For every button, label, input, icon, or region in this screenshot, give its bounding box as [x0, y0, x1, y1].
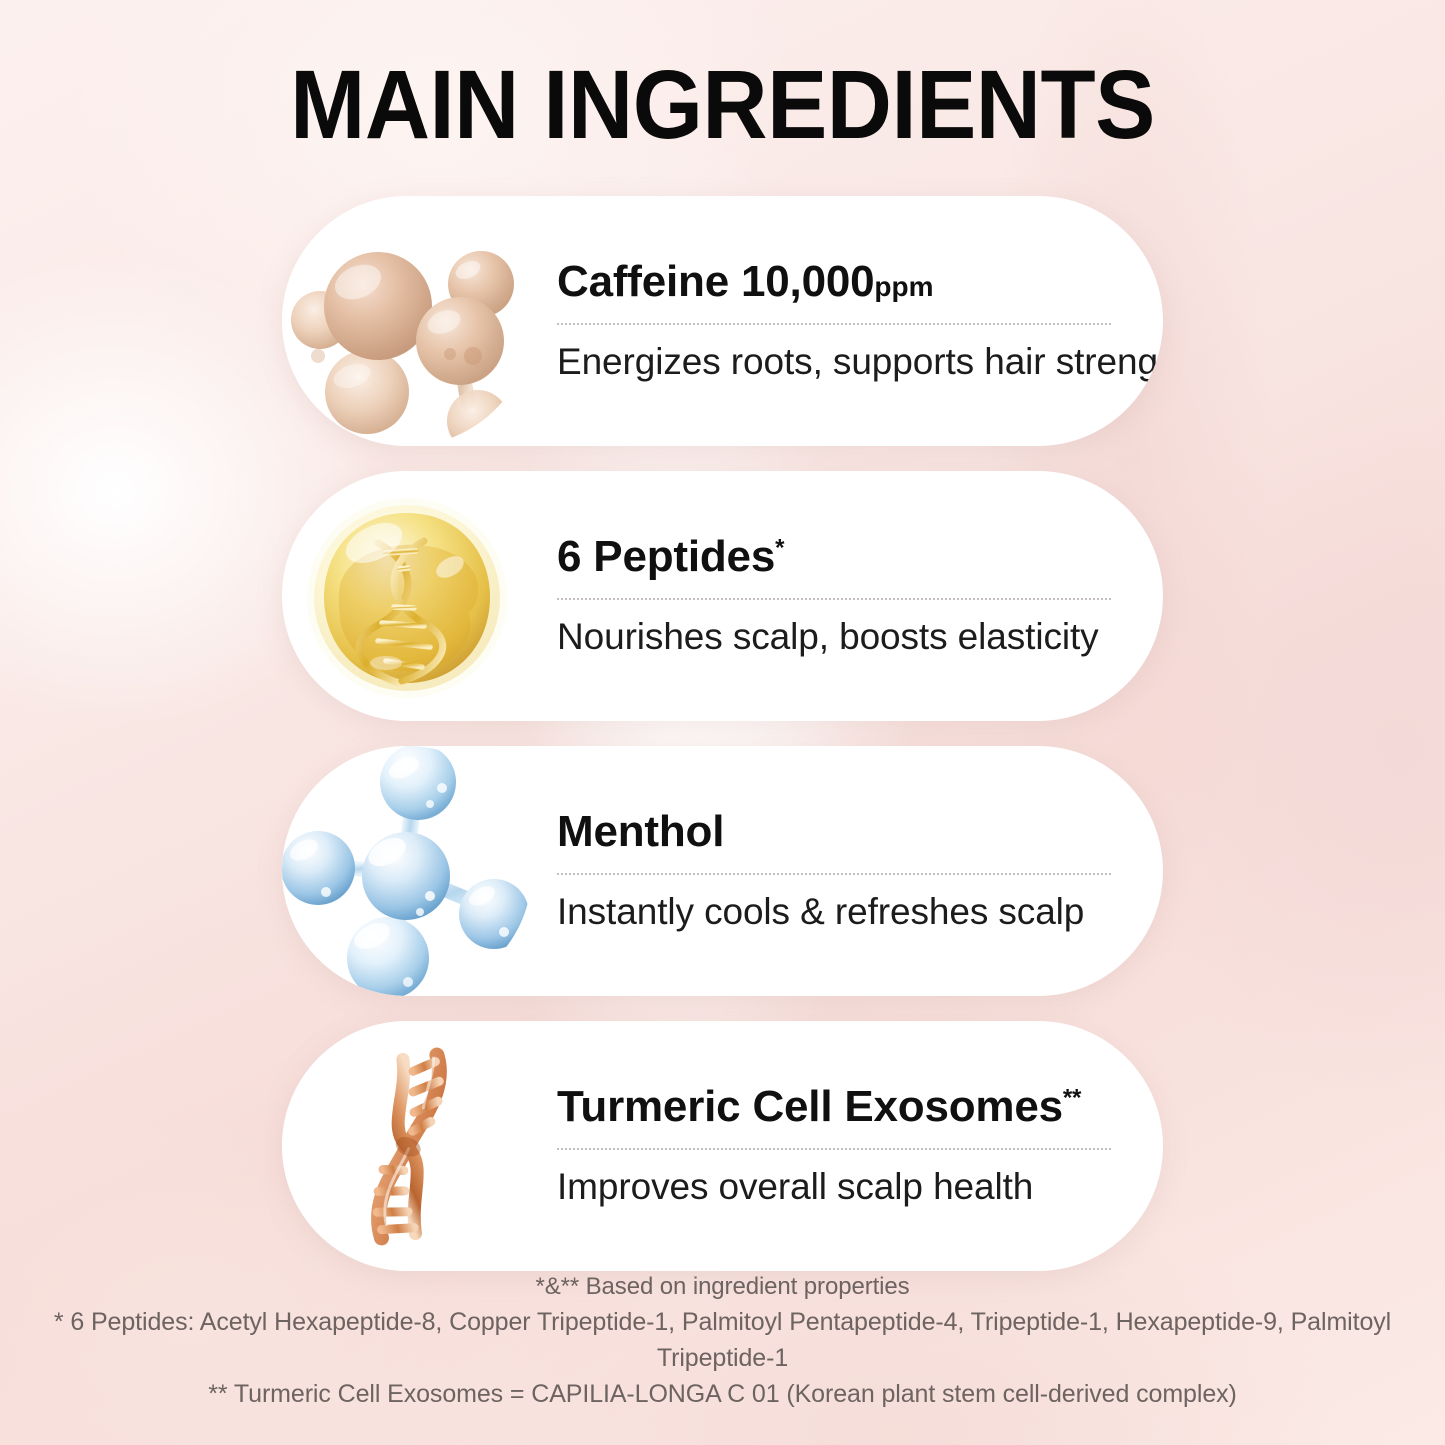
ingredient-card-list: Caffeine 10,000ppm Energizes roots, supp… — [0, 196, 1445, 1296]
ingredient-card-body: Caffeine 10,000ppm Energizes roots, supp… — [532, 259, 1163, 382]
footnote-turmeric: ** Turmeric Cell Exosomes = CAPILIA-LONG… — [0, 1376, 1445, 1412]
ingredient-description: Instantly cools & refreshes scalp — [557, 891, 1111, 932]
ingredient-description: Improves overall scalp health — [557, 1166, 1111, 1207]
ingredient-description: Energizes roots, supports hair strength — [557, 341, 1111, 382]
card-divider — [557, 873, 1111, 875]
ingredient-title-text: 6 Peptides — [557, 532, 775, 581]
ingredient-card-peptides[interactable]: 6 Peptides* Nourishes scalp, boosts elas… — [282, 471, 1163, 721]
card-divider — [557, 598, 1111, 600]
card-divider — [557, 323, 1111, 325]
ingredient-footnote-marker: * — [775, 535, 784, 562]
ingredient-title: Caffeine 10,000ppm — [557, 259, 1111, 306]
ingredient-title: Turmeric Cell Exosomes** — [557, 1084, 1111, 1131]
ingredient-card-turmeric-cell-exosomes[interactable]: Turmeric Cell Exosomes** Improves overal… — [282, 1021, 1163, 1271]
rose-gold-molecule-spheres-svg — [282, 196, 532, 446]
ingredient-title-text: Caffeine 10,000 — [557, 257, 874, 306]
ingredient-card-body: 6 Peptides* Nourishes scalp, boosts elas… — [532, 534, 1163, 657]
footnote-basis: *&** Based on ingredient properties — [0, 1270, 1445, 1304]
ingredient-card-body: Menthol Instantly cools & refreshes scal… — [532, 809, 1163, 932]
ingredient-unit: ppm — [874, 271, 933, 302]
page-title: MAIN INGREDIENTS — [51, 56, 1395, 153]
footnote-peptides: * 6 Peptides: Acetyl Hexapeptide-8, Copp… — [0, 1304, 1445, 1376]
ingredient-card-menthol[interactable]: Menthol Instantly cools & refreshes scal… — [282, 746, 1163, 996]
footnotes: *&** Based on ingredient properties * 6 … — [0, 1270, 1445, 1412]
ingredient-description: Nourishes scalp, boosts elasticity — [557, 616, 1111, 657]
ingredient-card-caffeine[interactable]: Caffeine 10,000ppm Energizes roots, supp… — [282, 196, 1163, 446]
ingredient-title: Menthol — [557, 809, 1111, 856]
blue-molecule-icon — [282, 746, 532, 996]
copper-dna-helix-icon — [282, 1021, 532, 1271]
copper-dna-helix-svg — [282, 1021, 532, 1271]
ingredient-card-body: Turmeric Cell Exosomes** Improves overal… — [532, 1084, 1163, 1207]
ingredient-footnote-marker: ** — [1063, 1085, 1081, 1112]
card-divider — [557, 1148, 1111, 1150]
golden-droplet-dna-svg — [282, 471, 532, 721]
blue-molecule-svg — [282, 746, 532, 996]
rose-gold-molecule-spheres-icon — [282, 196, 532, 446]
ingredient-title: 6 Peptides* — [557, 534, 1111, 581]
ingredient-title-text: Menthol — [557, 807, 724, 856]
ingredient-title-text: Turmeric Cell Exosomes — [557, 1082, 1063, 1131]
golden-droplet-dna-icon — [282, 471, 532, 721]
